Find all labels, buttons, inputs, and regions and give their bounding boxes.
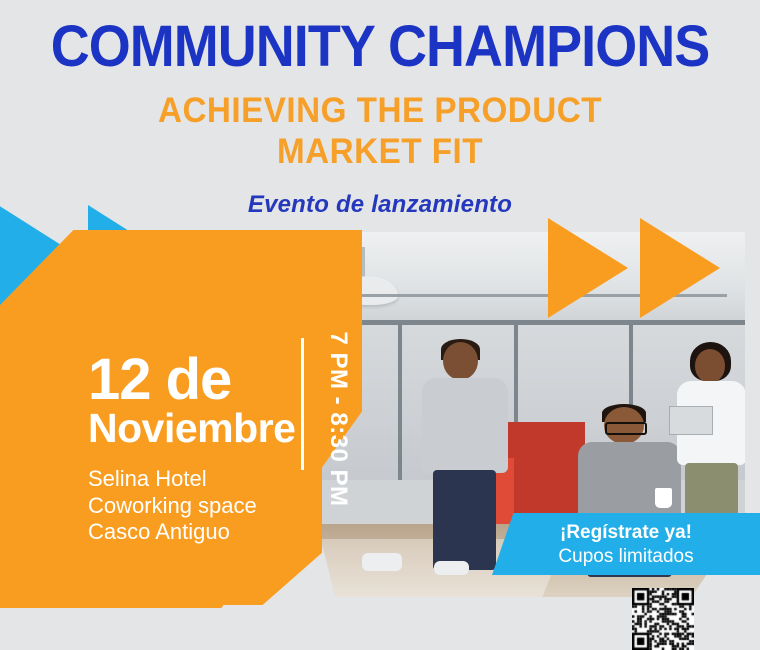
photo-person-body [578, 442, 681, 523]
photo-shoe-2 [434, 561, 470, 576]
poster-subtitle-line-1: ACHIEVING THE PRODUCT [19, 90, 741, 131]
glasses-icon [605, 422, 647, 434]
coffee-cup-icon [655, 488, 672, 508]
photo-person-body [422, 378, 508, 473]
poster-kicker: Evento de lanzamiento [0, 173, 760, 219]
register-cta-band[interactable]: ¡Regístrate ya! Cupos limitados [492, 513, 760, 575]
play-triangle-icon-orange-1 [548, 218, 628, 318]
photo-person-head [443, 342, 478, 380]
poster-subtitle-line-2: MARKET FIT [19, 131, 741, 172]
photo-person-standing-man [416, 342, 514, 568]
event-month: Noviembre [88, 407, 303, 450]
photo-person-legs [433, 470, 496, 570]
event-day: 12 de [88, 352, 303, 407]
photo-person-head [695, 349, 725, 383]
event-poster: COMMUNITY CHAMPIONS ACHIEVING THE PRODUC… [0, 0, 760, 650]
venue-line-2: Coworking space [88, 493, 303, 519]
venue-line-3: Casco Antiguo [88, 519, 303, 545]
cta-headline: ¡Regístrate ya! [492, 513, 760, 544]
photo-shoe-1 [362, 553, 402, 571]
photo-mullion-1 [398, 320, 402, 481]
venue-line-1: Selina Hotel [88, 466, 303, 492]
page-title: COMMUNITY CHAMPIONS [27, 0, 734, 76]
play-triangle-icon-orange-2 [640, 218, 720, 318]
event-details: 12 de Noviembre Selina Hotel Coworking s… [88, 352, 303, 545]
laptop-icon [669, 406, 713, 436]
photo-window-rail [300, 320, 745, 325]
qr-code[interactable] [632, 588, 694, 650]
poster-header: COMMUNITY CHAMPIONS ACHIEVING THE PRODUC… [0, 0, 760, 219]
photo-lamp-stem [362, 247, 365, 280]
poster-subtitle: ACHIEVING THE PRODUCT MARKET FIT [19, 76, 741, 173]
event-venue: Selina Hotel Coworking space Casco Antig… [88, 466, 303, 545]
cta-subline: Cupos limitados [492, 544, 760, 568]
event-time: 7 PM - 8:30 PM [324, 329, 352, 509]
time-divider [301, 338, 304, 470]
